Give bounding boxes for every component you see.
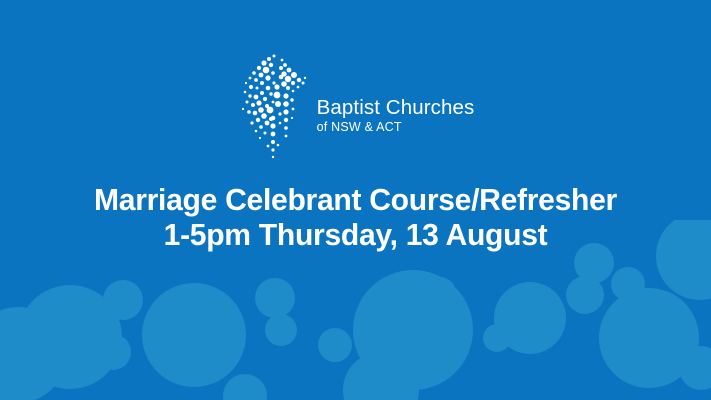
decorative-bubble — [494, 282, 566, 354]
logo: Baptist Churches of NSW & ACT — [0, 52, 711, 164]
headline: Marriage Celebrant Course/Refresher 1-5p… — [11, 183, 701, 252]
decorative-bubble — [142, 283, 246, 387]
logo-title: Baptist Churches — [317, 97, 475, 119]
logo-subtitle: of NSW & ACT — [317, 119, 475, 137]
decorative-bubble — [318, 328, 352, 362]
decorative-bubble — [95, 334, 131, 370]
decorative-bubble — [679, 346, 711, 390]
decorative-bubble — [103, 280, 143, 320]
decorative-bubble — [265, 314, 297, 346]
decorative-bubble — [223, 374, 267, 400]
headline-line-2: 1-5pm Thursday, 13 August — [11, 218, 701, 253]
slide-canvas: Baptist Churches of NSW & ACT Marriage C… — [0, 0, 711, 400]
decorative-bubble — [255, 278, 295, 318]
decorative-bubble — [424, 277, 456, 309]
baptist-churches-dotted-cross-logo-icon — [237, 52, 311, 164]
headline-line-1: Marriage Celebrant Course/Refresher — [11, 183, 701, 218]
